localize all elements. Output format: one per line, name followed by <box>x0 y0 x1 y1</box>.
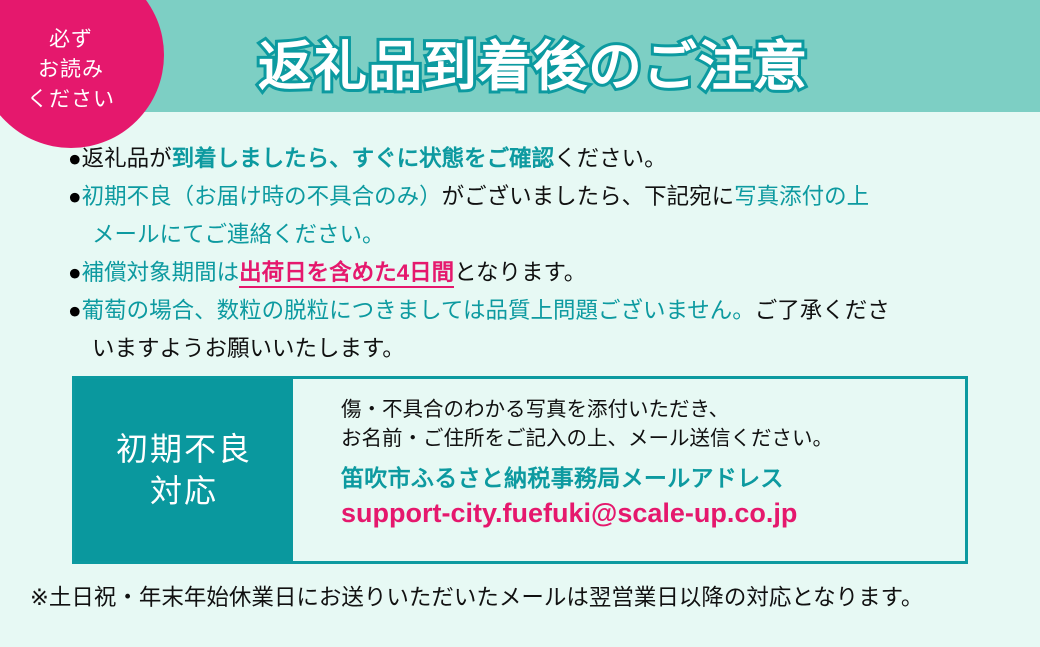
bullet-text-segment: 到着しましたら、すぐに状態をご確認 <box>172 146 555 171</box>
instruction-line-1: 傷・不具合のわかる写真を添付いただき、 <box>341 395 965 424</box>
bullet-text-segment: ください。 <box>554 146 667 171</box>
must-read-badge: 必ず お読み ください <box>0 0 164 148</box>
bullet-text-segment: 返礼品が <box>82 146 172 171</box>
bullet-text-segment: 初期不良（お届け時の不具合のみ） <box>82 184 442 209</box>
bullet-marker: ● <box>68 184 82 209</box>
bullet-text-segment: となります。 <box>454 260 586 285</box>
defect-support-label: 初期不良 対応 <box>75 379 293 561</box>
list-item-continuation: いますようお願いいたします。 <box>68 330 1018 368</box>
bullet-text-segment: ご了承くださ <box>755 298 890 323</box>
list-item: ●補償対象期間は出荷日を含めた4日間となります。 <box>68 254 1018 292</box>
defect-support-label-line-1: 初期不良 <box>116 428 252 470</box>
instruction-line-2: お名前・ご住所をご記入の上、メール送信ください。 <box>341 424 965 453</box>
bullet-text-highlight: 出荷日を含めた4日間 <box>239 260 454 288</box>
bullet-text-segment: いますようお願いいたします。 <box>92 336 405 361</box>
must-read-badge-line-2: お読み <box>38 55 104 85</box>
list-item: ●葡萄の場合、数粒の脱粒につきましては品質上問題ございません。ご了承くださ <box>68 292 1018 330</box>
must-read-badge-line-3: ください <box>27 85 115 115</box>
defect-support-body: 傷・不具合のわかる写真を添付いただき、 お名前・ご住所をご記入の上、メール送信く… <box>293 379 965 561</box>
defect-support-box: 初期不良 対応 傷・不具合のわかる写真を添付いただき、 お名前・ご住所をご記入の… <box>72 376 968 564</box>
page-title: 返礼品到着後のご注意 <box>258 22 808 101</box>
bullet-marker: ● <box>68 260 82 285</box>
bullet-text-segment: 写真添付の上 <box>734 184 869 209</box>
must-read-badge-line-1: 必ず <box>49 25 93 55</box>
bullet-text-segment: 補償対象期間は <box>82 260 240 285</box>
bullet-text-segment: がございましたら、下記宛に <box>442 184 735 209</box>
bullet-text-segment: メールにてご連絡ください。 <box>92 222 385 247</box>
mail-address-value[interactable]: support-city.fuefuki@scale-up.co.jp <box>341 496 965 530</box>
list-item: ●初期不良（お届け時の不具合のみ）がございましたら、下記宛に写真添付の上 <box>68 178 1018 216</box>
mail-address-label: 笛吹市ふるさと納税事務局メールアドレス <box>341 460 965 496</box>
bullet-text-segment: 葡萄の場合、数粒の脱粒につきましては品質上問題ございません。 <box>82 298 755 323</box>
footer-note: ※土日祝・年末年始休業日にお送りいただいたメールは翌営業日以降の対応となります。 <box>30 582 923 614</box>
defect-support-label-line-2: 対応 <box>150 470 218 512</box>
bullet-marker: ● <box>68 298 82 323</box>
bullet-marker: ● <box>68 146 82 171</box>
notice-bullet-list: ●返礼品が到着しましたら、すぐに状態をご確認ください。 ●初期不良（お届け時の不… <box>68 140 1018 368</box>
list-item: ●返礼品が到着しましたら、すぐに状態をご確認ください。 <box>68 140 1018 178</box>
list-item-continuation: メールにてご連絡ください。 <box>68 216 1018 254</box>
